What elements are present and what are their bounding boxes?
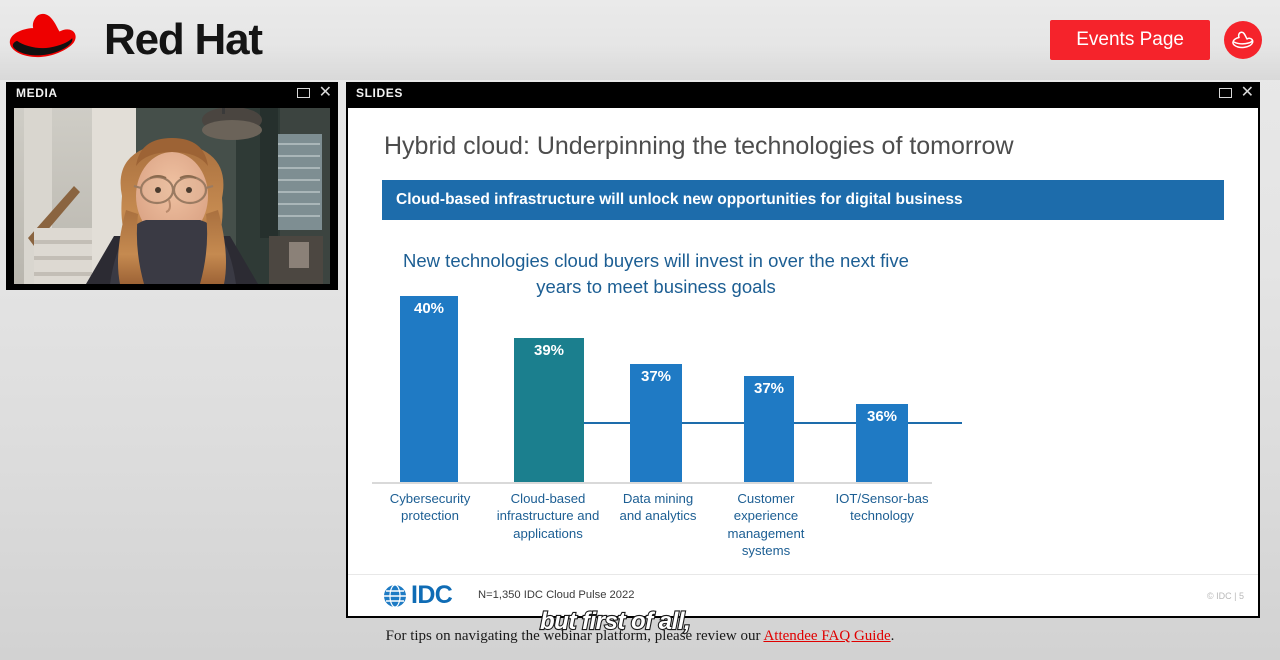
category-label-3: Customer experience management systems xyxy=(716,490,816,560)
bar-0: 40% xyxy=(400,296,458,482)
chart-bars: 40% 39% 37% 37% xyxy=(372,250,950,482)
slide-content: Hybrid cloud: Underpinning the technolog… xyxy=(348,108,1258,616)
bar-value-4: 36% xyxy=(867,408,897,482)
bar-4: 36% xyxy=(856,404,908,482)
page-header: Red Hat Events Page xyxy=(0,0,1280,80)
close-icon[interactable]: ✕ xyxy=(1241,88,1254,98)
category-label-4: IOT/Sensor-bas technology xyxy=(824,490,940,525)
media-panel-title: MEDIA xyxy=(16,86,58,100)
bar-chart: New technologies cloud buyers will inves… xyxy=(372,230,950,590)
close-icon[interactable]: ✕ xyxy=(319,88,332,98)
chart-axis-line xyxy=(372,482,932,484)
red-hat-fedora-logo xyxy=(8,12,94,68)
bar-2: 37% xyxy=(630,364,682,482)
bar-value-3: 37% xyxy=(754,380,784,482)
bar-rect-0: 40% xyxy=(400,296,458,482)
bar-value-2: 37% xyxy=(641,368,671,482)
header-actions: Events Page xyxy=(1050,20,1262,60)
category-label-2: Data mining and analytics xyxy=(610,490,706,525)
red-hat-icon-button[interactable] xyxy=(1224,21,1262,59)
attendee-faq-guide-link[interactable]: Attendee FAQ Guide xyxy=(763,628,890,644)
brand-name: Red Hat xyxy=(104,15,262,65)
slide-footer: IDC N=1,350 IDC Cloud Pulse 2022 © IDC |… xyxy=(348,574,1258,616)
maximize-icon[interactable] xyxy=(1219,88,1232,98)
media-panel-titlebar: MEDIA ✕ xyxy=(6,82,338,104)
slide-number: © IDC | 5 xyxy=(1207,591,1244,601)
media-panel-controls: ✕ xyxy=(297,88,332,98)
idc-logo-text: IDC xyxy=(411,581,452,610)
idc-source-note: N=1,350 IDC Cloud Pulse 2022 xyxy=(478,589,634,601)
slide-title: Hybrid cloud: Underpinning the technolog… xyxy=(384,132,1014,161)
bar-1: 39% xyxy=(514,338,584,482)
bar-value-1: 39% xyxy=(534,342,564,482)
idc-globe-icon xyxy=(382,583,408,609)
category-label-0: Cybersecurity protection xyxy=(376,490,484,525)
red-hat-fedora-icon xyxy=(1232,31,1254,49)
bar-3: 37% xyxy=(744,376,794,482)
bar-value-0: 40% xyxy=(414,300,444,482)
slide-banner-text: Cloud-based infrastructure will unlock n… xyxy=(396,191,963,209)
bar-rect-3: 37% xyxy=(744,376,794,482)
brand: Red Hat xyxy=(8,12,262,68)
presenter-video[interactable] xyxy=(14,108,330,284)
live-caption: but first of all, xyxy=(540,608,690,636)
slides-panel-titlebar: SLIDES ✕ xyxy=(346,82,1260,104)
footer-text-after: . xyxy=(891,628,895,644)
events-page-button[interactable]: Events Page xyxy=(1050,20,1210,60)
slides-panel: SLIDES ✕ Hybrid cloud: Underpinning the … xyxy=(346,82,1260,618)
maximize-icon[interactable] xyxy=(297,88,310,98)
slide-banner: Cloud-based infrastructure will unlock n… xyxy=(382,180,1224,220)
bar-rect-4: 36% xyxy=(856,404,908,482)
slides-panel-controls: ✕ xyxy=(1219,88,1254,98)
media-panel: MEDIA ✕ xyxy=(6,82,338,290)
bar-rect-1: 39% xyxy=(514,338,584,482)
category-label-1: Cloud-based infrastructure and applicati… xyxy=(490,490,606,542)
idc-logo: IDC xyxy=(382,581,452,610)
bar-rect-2: 37% xyxy=(630,364,682,482)
webcam-scene xyxy=(14,108,330,284)
slides-panel-title: SLIDES xyxy=(356,86,403,100)
